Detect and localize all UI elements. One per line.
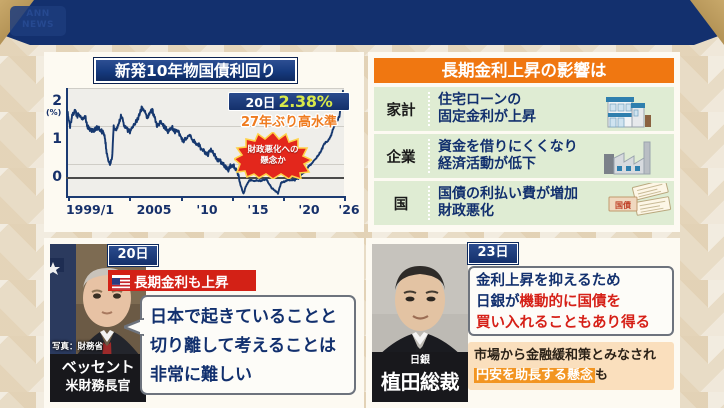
ueda-quote-line-2-navy: 日銀が	[476, 294, 520, 310]
bond-icon: 国債	[608, 183, 674, 223]
ueda-note-highlight: 円安を助長する懸念	[474, 368, 595, 383]
callout-value: 2.38%	[278, 92, 332, 111]
bessent-red-bar-label: 長期金利も上昇	[134, 271, 229, 291]
bessent-title: 米財務長官	[50, 378, 146, 396]
bond-icon-label: 国債	[613, 200, 633, 211]
impact-text-line-1: 住宅ローンの	[438, 92, 602, 109]
ueda-note-line-1: 市場から金融緩和策とみなされ	[474, 346, 674, 366]
ueda-note-line-2: 円安を助長する懸念も	[474, 366, 674, 386]
concern-starburst: 財政悪化への 懸念か	[234, 132, 312, 179]
ueda-nameplate: 日銀 植田総裁	[372, 352, 468, 402]
starburst-text: 財政悪化への 懸念か	[234, 132, 312, 179]
y-tick-0: 0	[46, 169, 62, 185]
photo-credit: 写真：財務省	[52, 340, 103, 352]
row-divider	[428, 92, 430, 126]
ueda-quote-line-1-text: 金利上昇を抑えるため	[476, 273, 621, 289]
impact-text-line-2: 経済活動が低下	[438, 156, 602, 173]
ueda-quote-line-1: 金利上昇を抑えるため	[476, 271, 672, 292]
impact-text-line-1: 資金を借りにくくなり	[438, 139, 602, 156]
impact-text-line-2: 財政悪化	[438, 203, 608, 220]
x-tick-2010: '10	[196, 202, 217, 217]
impact-row-household: 家計 住宅ローンの 固定金利が上昇	[374, 87, 674, 131]
bessent-red-bar: 長期金利も上昇	[108, 270, 256, 291]
ueda-note-rest: も	[595, 368, 608, 383]
y-axis-unit: (%)	[46, 108, 61, 117]
us-flag-icon	[112, 275, 130, 287]
impact-category-label: 企業	[374, 146, 428, 167]
ueda-quote-line-2-red: 機動的に国債を	[520, 294, 622, 310]
ueda-quote-line-2: 日銀が機動的に国債を	[476, 292, 672, 313]
ueda-name: 植田総裁	[372, 368, 468, 396]
row-divider	[428, 139, 430, 173]
impact-row-government: 国 国債の利払い費が増加 財政悪化	[374, 181, 674, 225]
bessent-date-badge: 20日	[108, 245, 158, 266]
chart-panel: 新発10年物国債利回り 2 (%) 1 0 1999/1 2005 '10 '1…	[44, 52, 364, 232]
impact-row-text: 国債の利払い費が増加 財政悪化	[438, 186, 608, 220]
ueda-quote-box: 金利上昇を抑えるため 日銀が機動的に国債を 買い入れることもあり得る	[468, 266, 674, 336]
x-tick-2026: '26	[338, 202, 359, 217]
impact-category-label: 家計	[374, 99, 428, 120]
chart-value-callout: 20日 2.38%	[228, 92, 350, 111]
x-tick-2015: '15	[247, 202, 268, 217]
building-icon	[602, 89, 674, 129]
quote-line-2: 切り離して考えることは	[150, 332, 350, 361]
bessent-quote-bubble: 日本で起きていることと 切り離して考えることは 非常に難しい	[140, 295, 356, 395]
ueda-note-bar: 市場から金融緩和策とみなされ 円安を助長する懸念も	[468, 342, 674, 390]
callout-subtitle: 27年ぶり高水準	[228, 111, 350, 130]
impact-row-text: 資金を借りにくくなり 経済活動が低下	[438, 139, 602, 173]
ueda-org: 日銀	[372, 354, 468, 368]
impact-category-label: 国	[374, 193, 428, 214]
y-tick-1: 1	[46, 131, 62, 147]
ueda-quote-line-3: 買い入れることもあり得る	[476, 313, 672, 334]
impact-text-line-1: 国債の利払い費が増加	[438, 186, 608, 203]
callout-date: 20日	[246, 92, 276, 111]
ann-news-logo: ANNNEWS	[10, 6, 66, 36]
impact-row-corporate: 企業 資金を借りにくくなり 経済活動が低下	[374, 134, 674, 178]
x-tick-1999: 1999/1	[66, 202, 114, 217]
x-tick-2020: '20	[298, 202, 319, 217]
impact-panel: 長期金利上昇の影響は 家計 住宅ローンの 固定金利が上昇	[368, 52, 680, 232]
quote-line-3: 非常に難しい	[150, 361, 350, 390]
impact-panel-header: 長期金利上昇の影響は	[374, 58, 674, 83]
chart-title: 新発10年物国債利回り	[94, 58, 297, 83]
x-tick-2005: 2005	[137, 202, 172, 217]
factory-icon	[602, 136, 674, 176]
speech-bubble-tail	[124, 318, 144, 336]
bessent-nameplate: ベッセント 米財務長官	[50, 354, 146, 402]
ueda-date-badge: 23日	[468, 243, 518, 264]
y-tick-2: 2	[46, 93, 62, 109]
row-divider	[428, 186, 430, 220]
impact-text-line-2: 固定金利が上昇	[438, 109, 602, 126]
starburst-line-1: 財政悪化への	[247, 145, 298, 156]
impact-row-text: 住宅ローンの 固定金利が上昇	[438, 92, 602, 126]
ueda-quote-line-3-red: 買い入れることもあり得る	[476, 315, 650, 331]
bessent-name: ベッセント	[50, 356, 146, 378]
chart-x-axis	[66, 196, 346, 198]
header-banner	[0, 0, 724, 45]
starburst-line-2: 懸念か	[260, 156, 286, 167]
quote-line-1: 日本で起きていることと	[150, 303, 350, 332]
